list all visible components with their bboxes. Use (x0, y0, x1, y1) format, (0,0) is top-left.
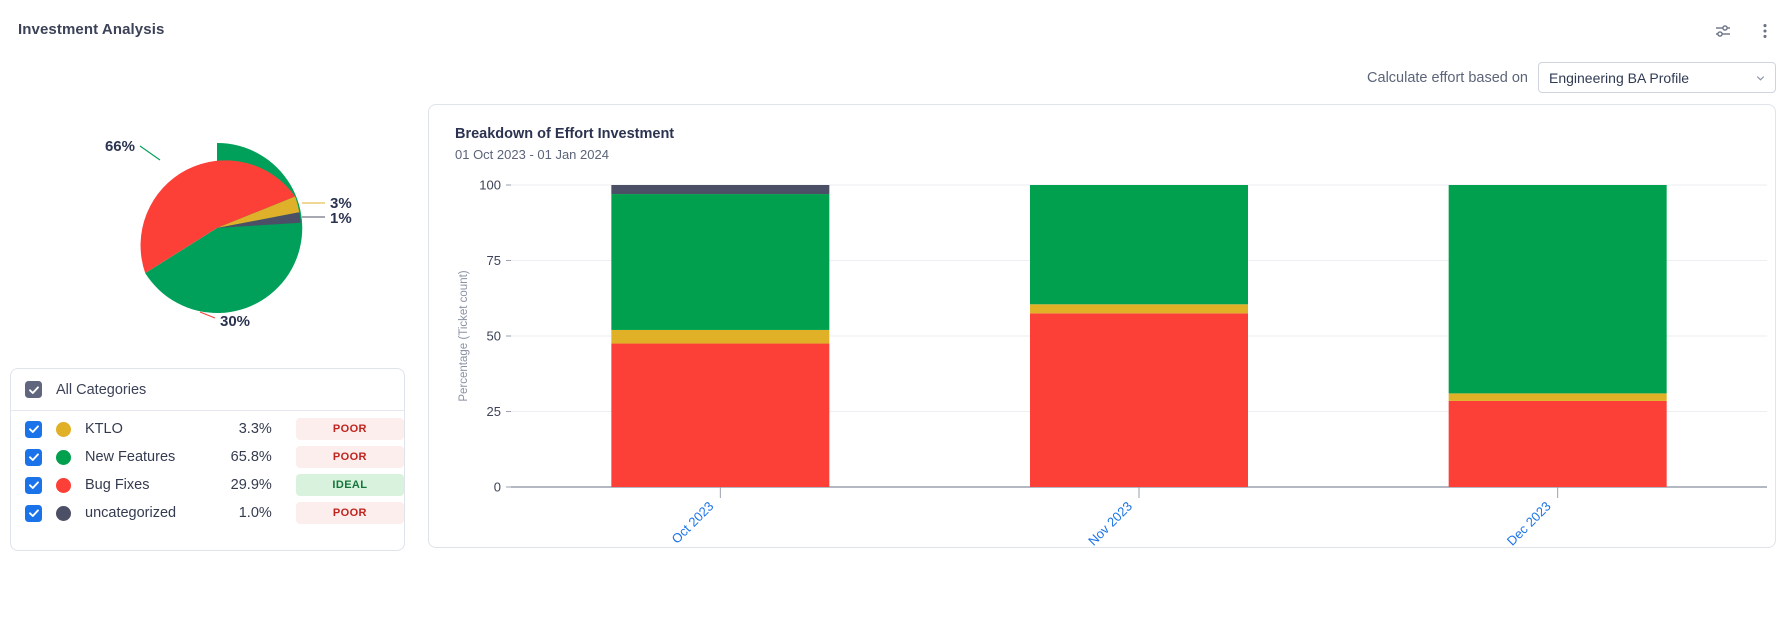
all-categories-label: All Categories (56, 382, 146, 398)
legend-checkbox-bug-fixes[interactable] (25, 477, 42, 494)
status-badge-ktlo: POOR (296, 418, 404, 440)
bar-segment[interactable] (611, 330, 829, 344)
status-badge-new-features: POOR (296, 446, 404, 468)
check-icon (28, 451, 40, 463)
effort-profile-value: Engineering BA Profile (1549, 70, 1689, 86)
legend-pct-ktlo: 3.3% (214, 421, 271, 437)
top-bar: Investment Analysis (0, 0, 1792, 60)
bar-segment[interactable] (1030, 313, 1248, 487)
effort-breakdown-card: Breakdown of Effort Investment 01 Oct 20… (428, 104, 1776, 548)
x-axis-label-nov-2023[interactable]: Nov 2023 (1085, 499, 1135, 549)
legend-name-bug-fixes: Bug Fixes (85, 477, 214, 493)
check-icon (28, 479, 40, 491)
bar-segment[interactable] (1449, 185, 1667, 393)
legend-color-dot-new-features (56, 450, 71, 465)
page-title: Investment Analysis (18, 21, 164, 38)
legend-row-uncategorized[interactable]: uncategorized 1.0% POOR (11, 499, 404, 527)
bar-segment[interactable] (1449, 401, 1667, 487)
legend-pct-new-features: 65.8% (214, 449, 271, 465)
check-icon (28, 423, 40, 435)
all-categories-checkbox[interactable] (25, 381, 42, 398)
all-categories-row[interactable]: All Categories (11, 369, 404, 411)
investment-pie-chart: 66% 3% 1% 30% (10, 105, 410, 355)
y-tick-label: 50 (487, 329, 501, 344)
bar-segment[interactable] (611, 185, 829, 194)
legend-checkbox-new-features[interactable] (25, 449, 42, 466)
legend-row-new-features[interactable]: New Features 65.8% POOR (11, 443, 404, 471)
check-icon (28, 507, 40, 519)
effort-profile-select[interactable]: Engineering BA Profile (1538, 62, 1776, 93)
legend-name-new-features: New Features (85, 449, 214, 465)
top-icon-group (1710, 18, 1778, 44)
y-tick-label: 75 (487, 253, 501, 268)
legend-name-ktlo: KTLO (85, 421, 214, 437)
status-badge-bug-fixes: IDEAL (296, 474, 404, 496)
pie-label-new-features: 66% (105, 138, 135, 155)
legend-checkbox-ktlo[interactable] (25, 421, 42, 438)
bar-segment[interactable] (1030, 185, 1248, 304)
more-vertical-icon[interactable] (1752, 18, 1778, 44)
legend-color-dot-uncategorized (56, 506, 71, 521)
legend-pct-bug-fixes: 29.9% (214, 477, 271, 493)
y-tick-label: 25 (487, 404, 501, 419)
y-tick-label: 100 (479, 178, 501, 193)
x-axis-label-oct-2023[interactable]: Oct 2023 (669, 499, 717, 547)
legend-color-dot-ktlo (56, 422, 71, 437)
legend-name-uncategorized: uncategorized (85, 505, 214, 521)
pie-label-bug-fixes: 30% (220, 313, 250, 330)
chevron-down-icon (1755, 72, 1766, 83)
category-legend-card: All Categories KTLO 3.3% POOR New Featur… (10, 368, 405, 551)
bar-segment[interactable] (1030, 304, 1248, 313)
pie-leader-line-new-features (140, 146, 160, 160)
legend-checkbox-uncategorized[interactable] (25, 505, 42, 522)
legend-row-bug-fixes[interactable]: Bug Fixes 29.9% IDEAL (11, 471, 404, 499)
effort-selector-row: Calculate effort based on Engineering BA… (1367, 62, 1776, 93)
y-tick-label: 0 (494, 480, 501, 495)
legend-row-ktlo[interactable]: KTLO 3.3% POOR (11, 415, 404, 443)
sliders-icon[interactable] (1710, 18, 1736, 44)
y-axis-label: Percentage (Ticket count) (458, 270, 470, 401)
check-icon (28, 384, 40, 396)
pie-label-uncategorized: 1% (330, 210, 352, 227)
effort-label: Calculate effort based on (1367, 70, 1528, 86)
pie-svg: 66% 3% 1% 30% (10, 105, 410, 355)
legend-row-list: KTLO 3.3% POOR New Features 65.8% POOR B… (11, 411, 404, 527)
legend-pct-uncategorized: 1.0% (214, 505, 271, 521)
bar-segment[interactable] (611, 344, 829, 487)
x-axis-label-dec-2023[interactable]: Dec 2023 (1504, 499, 1554, 549)
stacked-bar-chart: 0255075100Percentage (Ticket count)Oct 2… (429, 105, 1777, 549)
legend-color-dot-bug-fixes (56, 478, 71, 493)
bar-segment[interactable] (611, 194, 829, 330)
bar-segment[interactable] (1449, 393, 1667, 401)
status-badge-uncategorized: POOR (296, 502, 404, 524)
pie-leader-line-bug-fixes (200, 312, 215, 318)
